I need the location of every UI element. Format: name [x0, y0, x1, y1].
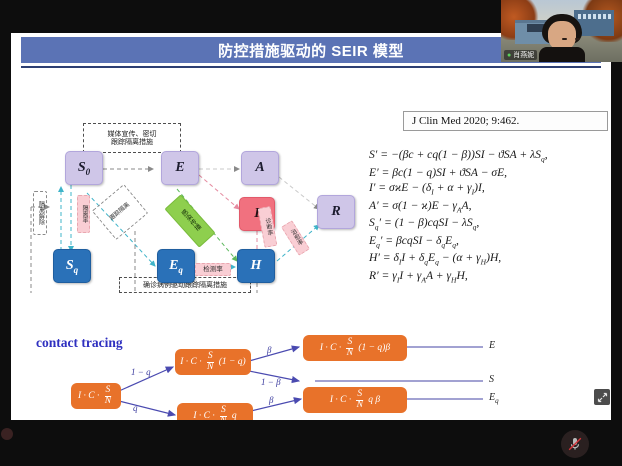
- label-detection-rate: 检测率: [195, 263, 231, 276]
- tree-leaf-box-top[interactable]: I · C · SN (1 − q)β: [303, 335, 407, 361]
- equation-sq: Sq′ = (1 − β)cqSI − λSq,: [369, 215, 611, 233]
- outcome-label-s: S: [489, 374, 494, 385]
- contact-tracing-tree: I · C · SN 1 − q q I · C · SN (1 − q) I …: [27, 329, 587, 420]
- microphone-muted-icon: [566, 435, 584, 453]
- model-equations: S′ = −(βc + cq(1 − β))SI − ϑSA + λSq, E′…: [369, 147, 611, 285]
- equation-i: I′ = σϰE − (δI + α + γI)I,: [369, 180, 611, 198]
- node-s0[interactable]: S0: [65, 151, 103, 185]
- group-box-media-tracing: 媒体宣传、密切跟踪隔离措施: [83, 123, 181, 153]
- node-eq[interactable]: Eq: [157, 249, 195, 283]
- branch-label-1mbeta-top: 1 − β: [261, 377, 281, 387]
- outcome-label-eq: Eq: [489, 392, 499, 405]
- node-a[interactable]: A: [241, 151, 279, 185]
- equation-eq: Eq′ = βcqSI − δqEq,: [369, 233, 611, 251]
- group-box-media-tracing-label: 媒体宣传、密切跟踪隔离措施: [108, 130, 157, 147]
- equation-a: A′ = σ(1 − ϰ)E − γAA,: [369, 198, 611, 216]
- label-isolation-release: 隔离解除: [33, 191, 47, 235]
- page-title: 防控措施驱动的 SEIR 模型: [218, 40, 404, 61]
- branch-label-q: q: [133, 403, 138, 413]
- outcome-label-e: E: [489, 340, 495, 351]
- mute-microphone-button[interactable]: [561, 430, 589, 458]
- tree-leaf-box-bottom[interactable]: I · C · SN q β: [303, 387, 407, 413]
- branch-label-1mq: 1 − q: [131, 367, 151, 377]
- equation-r: R′ = γII + γAA + γHH,: [369, 268, 611, 286]
- citation-text: J Clin Med 2020; 9:462.: [412, 115, 519, 127]
- participant-figure: [539, 14, 585, 62]
- title-divider: [21, 66, 601, 68]
- participant-name-label: 肖燕妮: [513, 50, 534, 60]
- participant-torso: [539, 47, 585, 62]
- citation-box: J Clin Med 2020; 9:462.: [403, 111, 608, 131]
- meeting-stage: 防控措施驱动的 SEIR 模型 J Clin Med 2020; 9:462. …: [0, 0, 622, 466]
- label-quarantine-rate: 隔离率: [77, 195, 90, 233]
- participant-name-badge: ● 肖燕妮: [504, 50, 537, 60]
- tree-mid-box-bottom[interactable]: I · C · SN q: [177, 403, 253, 420]
- participant-eye-right: [575, 38, 580, 40]
- participant-video-tile[interactable]: ● 肖燕妮: [501, 0, 622, 62]
- expand-view-button[interactable]: [594, 389, 610, 405]
- equation-s: S′ = −(βc + cq(1 − β))SI − ϑSA + λSq,: [369, 147, 611, 165]
- microphone-icon: ●: [507, 52, 511, 59]
- tree-root-box[interactable]: I · C · SN: [71, 383, 121, 409]
- reaction-indicator: [1, 428, 13, 440]
- node-e[interactable]: E: [161, 151, 199, 185]
- expand-arrows-icon: [597, 392, 608, 403]
- node-r[interactable]: R: [317, 195, 355, 229]
- seir-flow-diagram: 媒体宣传、密切跟踪隔离措施 确诊病例驱动跟踪隔离措施 S0 E A I R: [27, 121, 362, 293]
- node-sq[interactable]: Sq: [53, 249, 91, 283]
- equation-e: E′ = βc(1 − q)SI + ϑSA − σE,: [369, 165, 611, 181]
- participant-eye-left: [562, 38, 567, 40]
- tree-mid-box-top[interactable]: I · C · SN (1 − q): [175, 349, 251, 375]
- equation-h: H′ = δII + δqEq − (α + γH)H,: [369, 250, 611, 268]
- node-h[interactable]: H: [237, 249, 275, 283]
- shared-slide: 防控措施驱动的 SEIR 模型 J Clin Med 2020; 9:462. …: [11, 33, 611, 420]
- branch-label-beta-bottom: β: [269, 395, 273, 405]
- branch-label-beta-top: β: [267, 345, 271, 355]
